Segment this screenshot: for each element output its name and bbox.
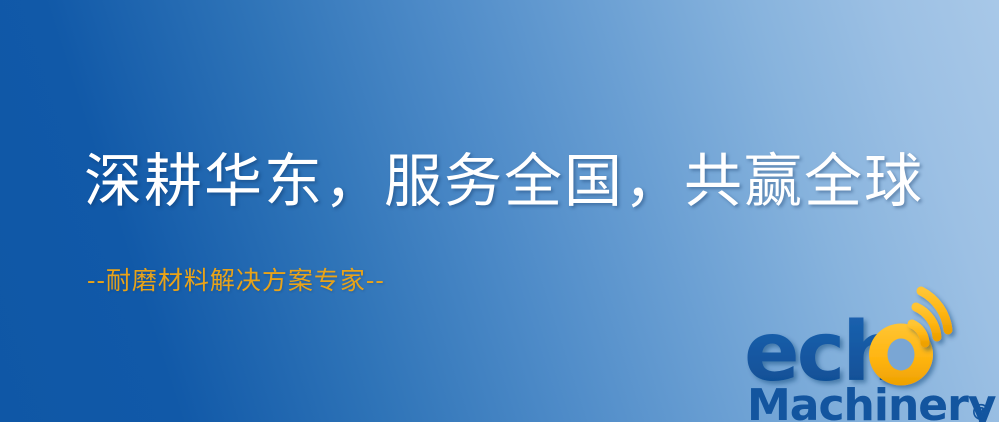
banner-subtitle: --耐磨材料解决方案专家-- xyxy=(87,268,385,293)
echo-machinery-logo: ech Machinery ® xyxy=(744,292,999,422)
promo-banner: 深耕华东，服务全国，共赢全球 --耐磨材料解决方案专家-- xyxy=(0,0,999,422)
svg-text:Machinery: Machinery xyxy=(747,380,996,422)
svg-text:®: ® xyxy=(970,401,992,422)
logo-subbrand-machinery: Machinery ® xyxy=(747,380,996,422)
banner-headline: 深耕华东，服务全国，共赢全球 xyxy=(84,152,924,210)
